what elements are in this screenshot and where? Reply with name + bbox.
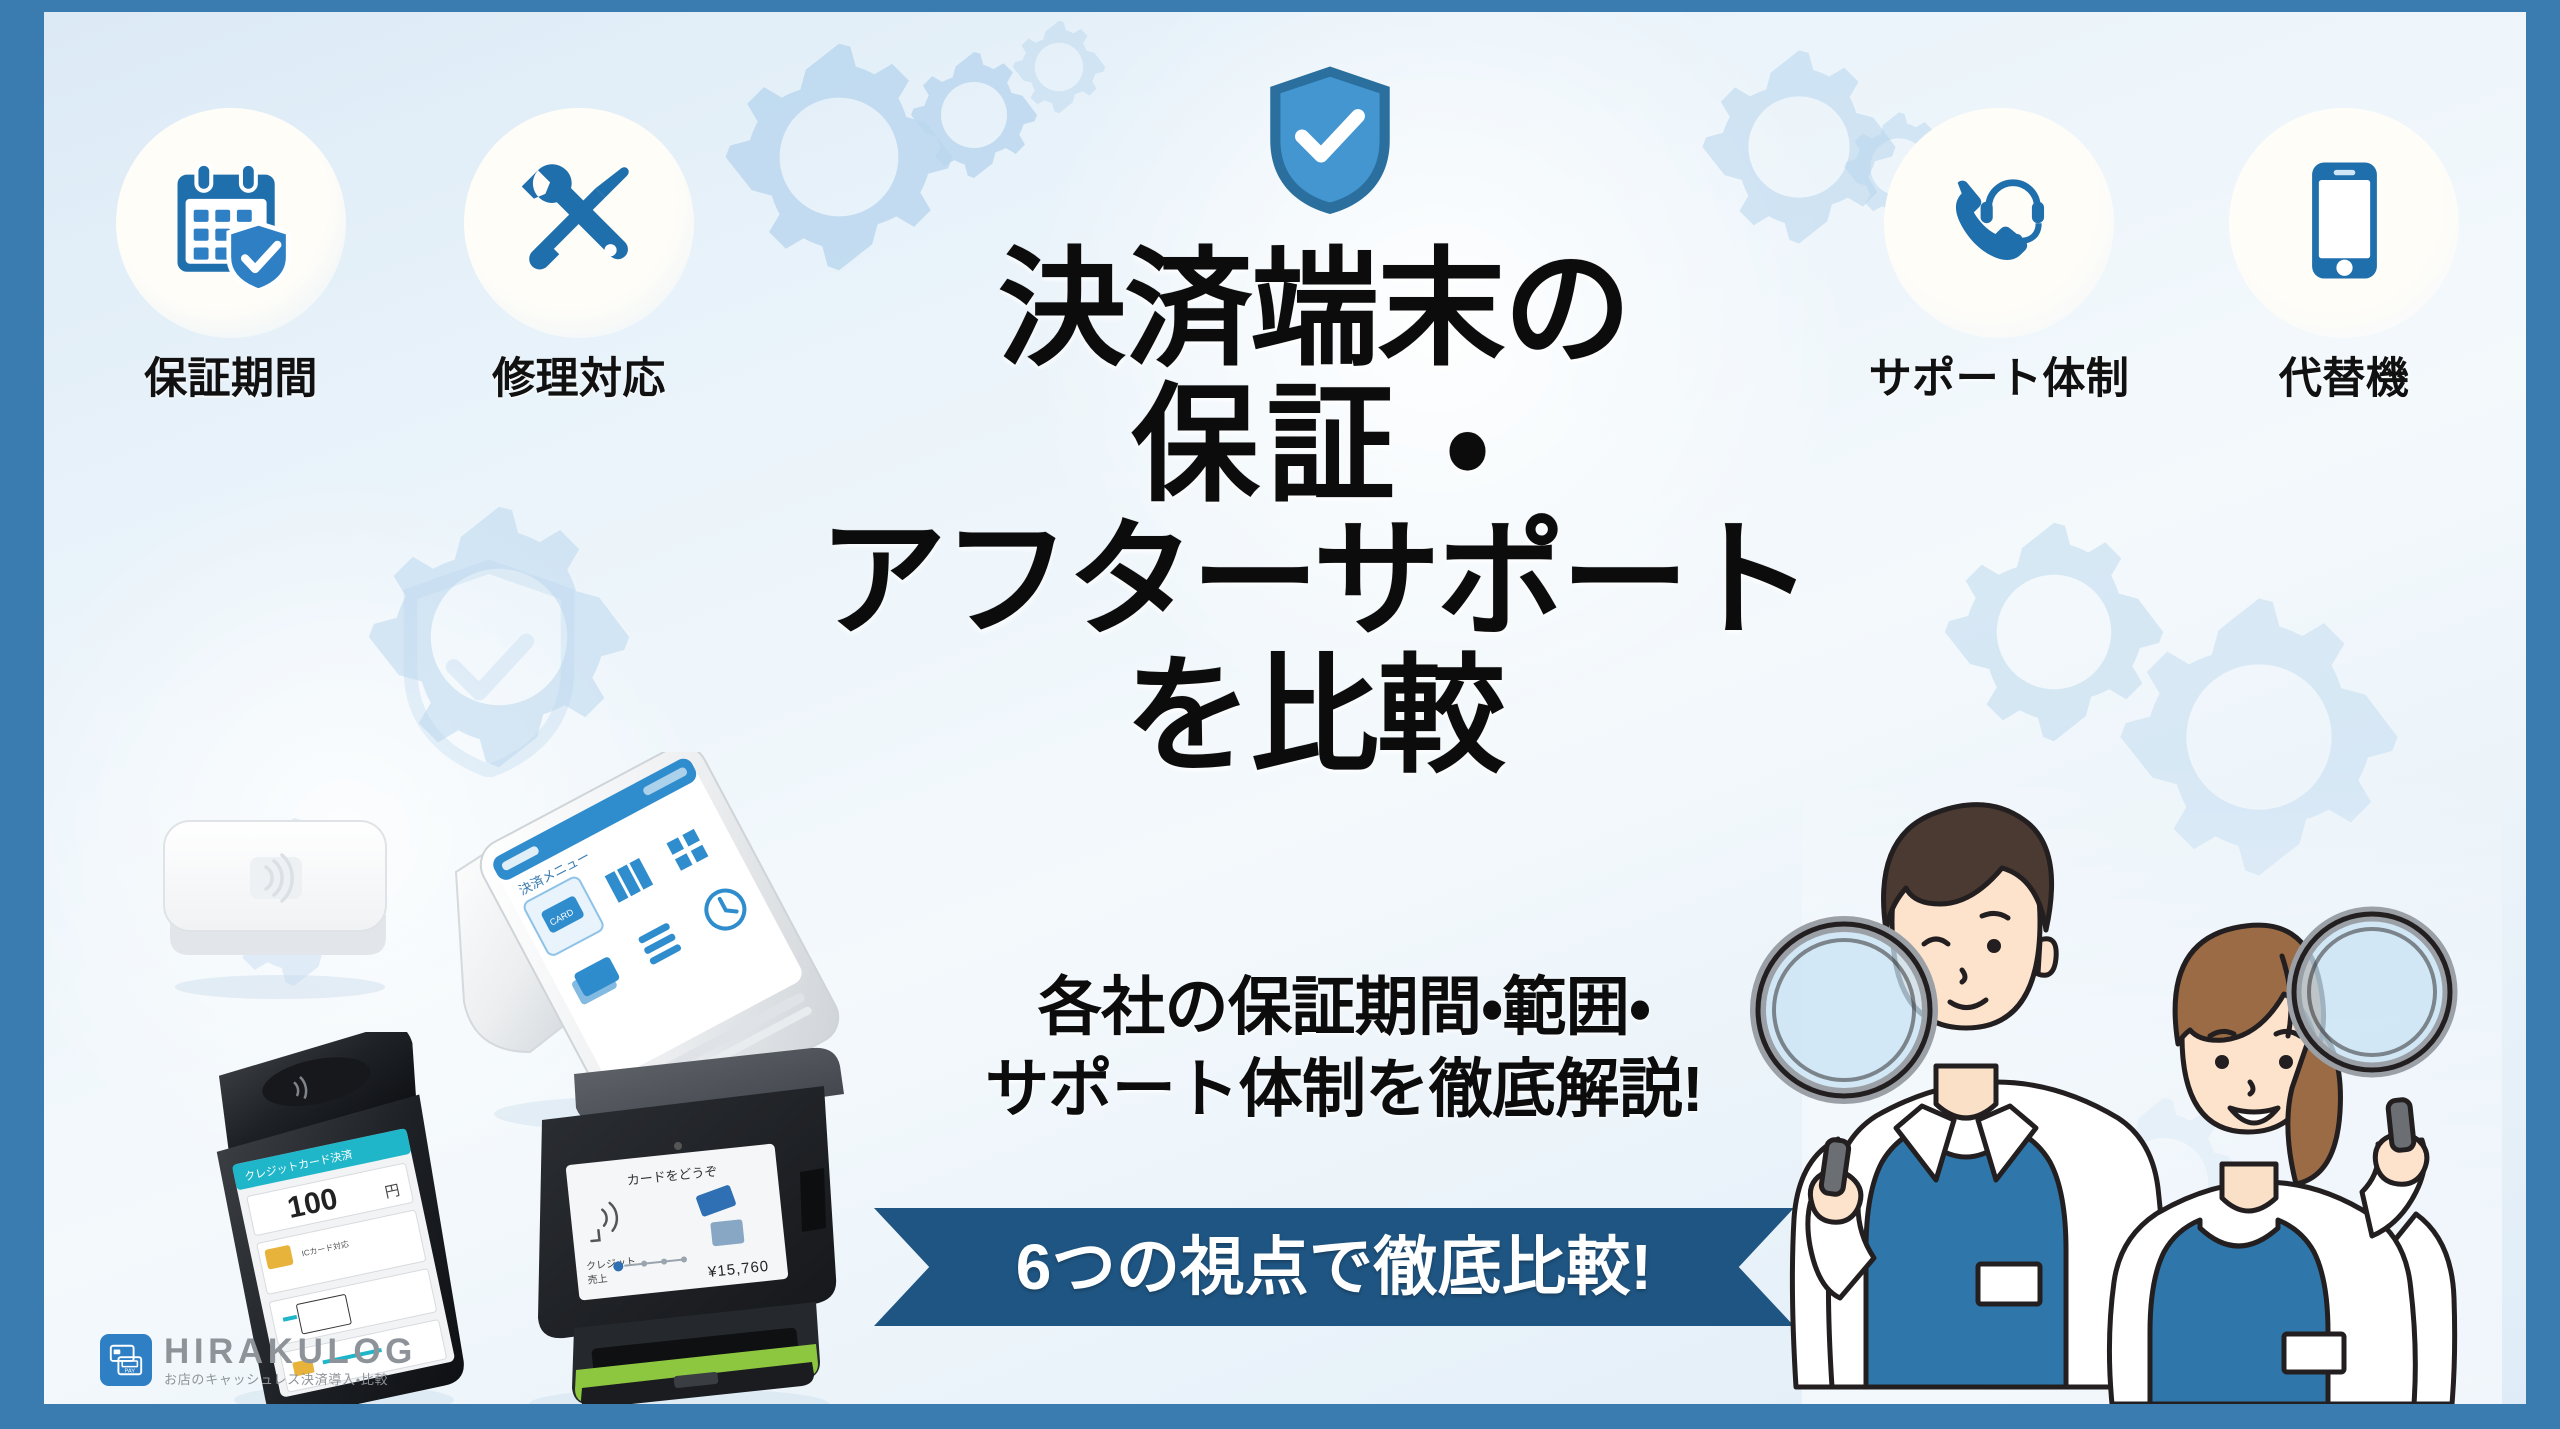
page-title: 決済端末の 保証 ・ アフターサポート を比較 — [684, 242, 1944, 785]
badge-disc — [116, 108, 346, 338]
headline-line-1: 決済端末の — [684, 242, 1944, 378]
badge-spare: 代替機 — [2209, 108, 2479, 406]
subcopy-line-2: サポート体制を徹底解説! — [864, 1049, 1824, 1131]
logo-wordmark: HIRAKULOG — [164, 1334, 417, 1369]
phone-headset-icon — [1932, 153, 2067, 293]
badge-disc — [2229, 108, 2459, 338]
badge-spare-label: 代替機 — [2209, 344, 2479, 406]
svg-text:PAY: PAY — [125, 1368, 136, 1374]
page-subtitle: 各社の保証期間・範囲・ サポート体制を徹底解説! — [864, 967, 1824, 1131]
card-pay-terminal-icon: PAY — [100, 1334, 152, 1386]
two-shop-staff-illustration — [1726, 744, 2526, 1404]
calendar-shield-check-icon — [164, 153, 299, 293]
gear-icon — [1004, 12, 1114, 122]
badge-repair-label: 修理対応 — [464, 344, 694, 406]
badge-warranty: 保証期間 — [116, 108, 346, 406]
magnifying-glass — [1758, 924, 1930, 1096]
headline-line-3: アフターサポート — [684, 513, 1944, 649]
site-logo[interactable]: PAY HIRAKULOG お店のキャッシュレス決済導入・比較 — [100, 1334, 417, 1386]
wrench-screwdriver-icon — [512, 153, 647, 293]
badge-repair: 修理対応 — [464, 108, 694, 406]
logo-tagline: お店のキャッシュレス決済導入・比較 — [164, 1373, 417, 1386]
device-square-card-reader — [140, 787, 410, 1002]
banner-inner-frame: 保証期間 — [44, 12, 2526, 1404]
shield-watermark-icon — [389, 557, 589, 777]
banner-root: 保証期間 — [0, 0, 2560, 1429]
subcopy-line-1: 各社の保証期間・範囲・ — [864, 967, 1824, 1049]
magnifying-glass — [2294, 914, 2450, 1070]
ribbon-banner: 6つの視点で徹底比較! — [874, 1208, 1794, 1326]
shield-check-icon — [1266, 64, 1394, 214]
smartphone-icon — [2277, 153, 2412, 293]
badge-warranty-label: 保証期間 — [116, 344, 346, 406]
device-countertop-register: カードをどうぞ クレジット 売上 ¥15,760 — [464, 1022, 884, 1404]
headline-line-2: 保証 ・ — [684, 378, 1944, 514]
badge-disc — [464, 108, 694, 338]
